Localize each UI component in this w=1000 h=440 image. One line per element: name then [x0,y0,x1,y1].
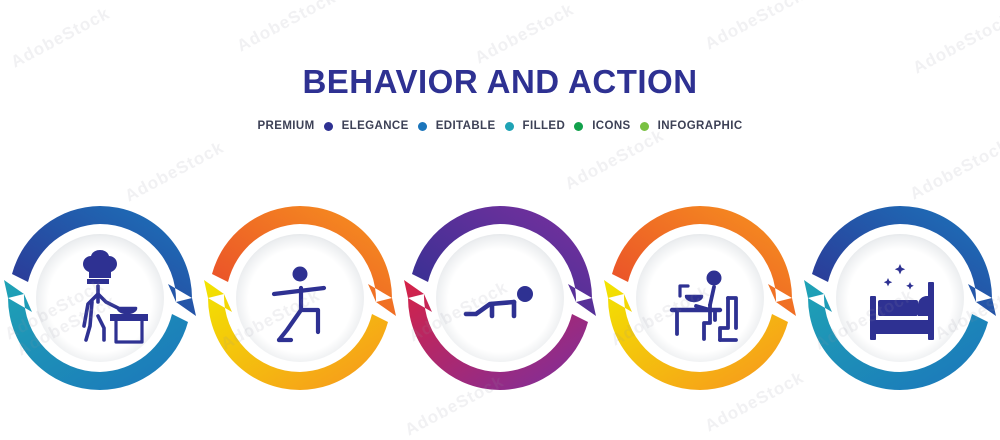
badge-inner-disc [436,234,564,362]
badge-push-up[interactable]: AdobeStock [400,198,600,398]
bullet-dot-icon [505,122,514,131]
legend-label: PREMIUM [257,120,314,132]
badge-lunge-stretch[interactable]: AdobeStock [200,198,400,398]
legend-item-infographic: INFOGRAPHIC [640,120,743,132]
watermark: AdobeStock [122,138,228,207]
legend: PREMIUM ELEGANCE EDITABLE FILLED ICONS [0,120,1000,132]
bullet-dot-icon [574,122,583,131]
legend-item-premium: PREMIUM [257,120,314,132]
badge-row: AdobeStock [0,198,1000,398]
badge-desk-work[interactable]: AdobeStock [600,198,800,398]
badge-sleeping-bed[interactable]: AdobeStock [800,198,1000,398]
legend-label: ICONS [592,120,630,132]
badge-chef-cooking[interactable]: AdobeStock [0,198,200,398]
legend-label: ELEGANCE [342,120,409,132]
header: BEHAVIOR AND ACTION PREMIUM ELEGANCE EDI… [0,0,1000,132]
legend-item-editable: EDITABLE [418,120,496,132]
legend-label: FILLED [523,120,566,132]
page-title: BEHAVIOR AND ACTION [0,64,1000,100]
infographic-page: BEHAVIOR AND ACTION PREMIUM ELEGANCE EDI… [0,0,1000,428]
badge-inner-disc [836,234,964,362]
legend-label: INFOGRAPHIC [658,120,743,132]
watermark: AdobeStock [562,126,668,195]
legend-item-elegance: ELEGANCE [324,120,409,132]
bullet-dot-icon [324,122,333,131]
bullet-dot-icon [418,122,427,131]
watermark: AdobeStock [907,136,1000,205]
bullet-dot-icon [640,122,649,131]
legend-label: EDITABLE [436,120,496,132]
legend-item-icons: ICONS [574,120,630,132]
legend-item-filled: FILLED [505,120,566,132]
